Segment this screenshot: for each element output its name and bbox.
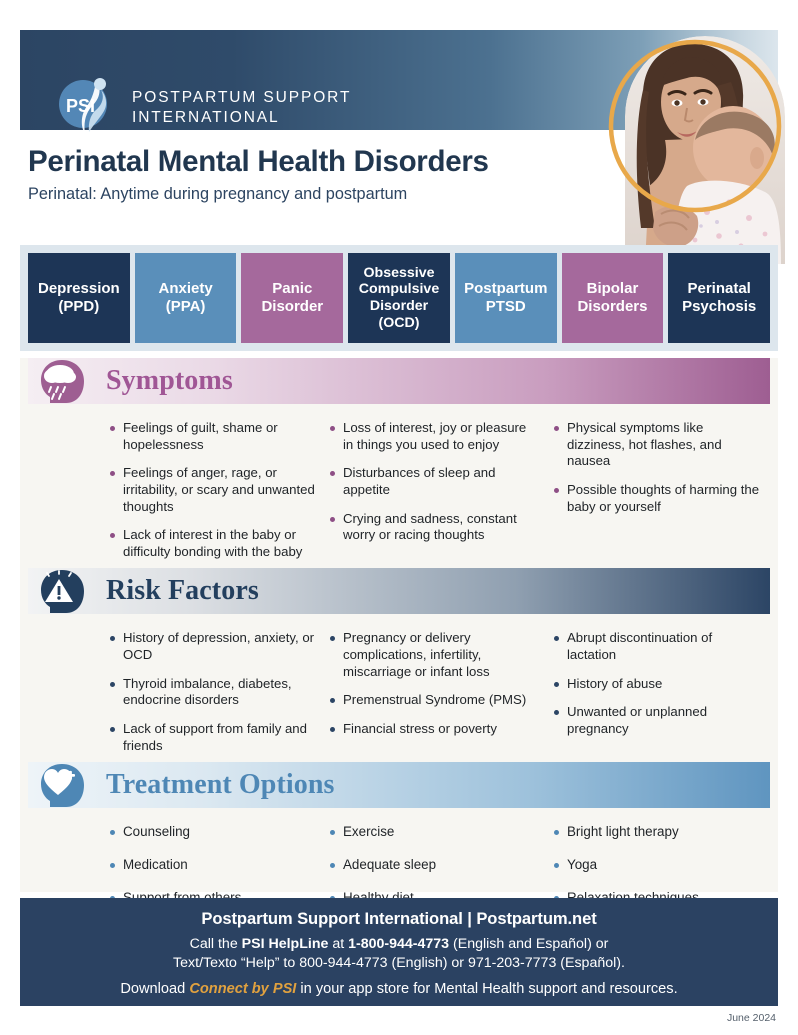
hero-photo-block bbox=[607, 22, 782, 250]
list-item: Yoga bbox=[554, 857, 764, 874]
list-item: Lack of support from family and friends bbox=[110, 721, 320, 754]
footer-helpline-name: PSI HelpLine bbox=[242, 936, 329, 952]
tab-ocd[interactable]: ObsessiveCompulsiveDisorder(OCD) bbox=[348, 253, 450, 343]
risk-column-3: Abrupt discontinuation of lactation Hist… bbox=[540, 630, 764, 754]
org-name: POSTPARTUM SUPPORT INTERNATIONAL bbox=[132, 88, 351, 129]
date-stamp: June 2024 bbox=[727, 1012, 776, 1024]
org-name-line1: POSTPARTUM SUPPORT bbox=[132, 88, 351, 108]
list-item: Disturbances of sleep and appetite bbox=[330, 465, 540, 498]
tab-sublabel: PTSD bbox=[464, 298, 547, 316]
psi-logo: PSI POSTPARTUM SUPPORT INTERNATIONAL bbox=[56, 74, 351, 142]
tab-label: Anxiety bbox=[158, 280, 212, 298]
page-subtitle: Perinatal: Anytime during pregnancy and … bbox=[28, 185, 489, 204]
list-item: History of depression, anxiety, or OCD bbox=[110, 630, 320, 663]
footer-text-line: Text/Texto “Help” to 800-944-4773 (Engli… bbox=[20, 954, 778, 973]
footer-helpline-at: at bbox=[328, 936, 348, 952]
gold-ring-accent-icon bbox=[607, 22, 782, 250]
list-item: Bright light therapy bbox=[554, 824, 764, 841]
tab-depression[interactable]: Depression(PPD) bbox=[28, 253, 130, 343]
section-header-treatment-options: Treatment Options bbox=[28, 762, 770, 808]
tab-label: Perinatal bbox=[682, 280, 756, 298]
tab-perinatal-psychosis[interactable]: PerinatalPsychosis bbox=[668, 253, 770, 343]
tab-panic-disorder[interactable]: PanicDisorder bbox=[241, 253, 343, 343]
tab-sublabel: Disorders bbox=[577, 298, 647, 316]
tab-sublabel: Psychosis bbox=[682, 298, 756, 316]
footer-app-suffix: in your app store for Mental Health supp… bbox=[296, 981, 677, 997]
footer-app-name[interactable]: Connect by PSI bbox=[189, 981, 296, 997]
section-title: Symptoms bbox=[106, 365, 233, 397]
svg-text:PSI: PSI bbox=[66, 96, 95, 116]
disorder-tabs: Depression(PPD) Anxiety(PPA) PanicDisord… bbox=[20, 245, 778, 351]
tab-sublabel: (OCD) bbox=[359, 315, 439, 332]
tab-sublabel: (PPA) bbox=[158, 298, 212, 316]
list-item: History of abuse bbox=[554, 676, 764, 693]
list-item: Abrupt discontinuation of lactation bbox=[554, 630, 764, 663]
section-header-symptoms: Symptoms bbox=[28, 358, 770, 404]
tab-label: Bipolar bbox=[577, 280, 647, 298]
section-risk-factors: Risk Factors History of depression, anxi… bbox=[20, 568, 778, 762]
org-name-line2: INTERNATIONAL bbox=[132, 108, 351, 128]
footer-helpline-prefix: Call the bbox=[190, 936, 242, 952]
symptoms-columns: Feelings of guilt, shame or hopelessness… bbox=[20, 404, 778, 568]
tab-label: Postpartum bbox=[464, 280, 547, 298]
symptoms-column-1: Feelings of guilt, shame or hopelessness… bbox=[34, 420, 320, 560]
head-warning-triangle-icon bbox=[36, 567, 88, 615]
list-item: Lack of interest in the baby or difficul… bbox=[110, 527, 320, 560]
tab-label: Panic bbox=[261, 280, 323, 298]
risk-column-2: Pregnancy or delivery complications, inf… bbox=[320, 630, 540, 754]
list-item: Pregnancy or delivery complications, inf… bbox=[330, 630, 540, 680]
list-item: Exercise bbox=[330, 824, 540, 841]
infographic-page: PSI POSTPARTUM SUPPORT INTERNATIONAL Per… bbox=[0, 0, 798, 1035]
list-item: Premenstrual Syndrome (PMS) bbox=[330, 692, 540, 709]
footer-helpline-number[interactable]: 1-800-944-4773 bbox=[348, 936, 449, 952]
list-item: Medication bbox=[110, 857, 320, 874]
footer-app-line: Download Connect by PSI in your app stor… bbox=[20, 981, 778, 997]
tab-sublabel: (PPD) bbox=[38, 298, 120, 316]
head-rain-cloud-icon bbox=[36, 357, 88, 405]
title-block: Perinatal Mental Health Disorders Perina… bbox=[28, 146, 489, 204]
psi-figure-logo-icon: PSI bbox=[56, 74, 118, 142]
tab-label-3: Disorder bbox=[359, 298, 439, 315]
list-item: Loss of interest, joy or pleasure in thi… bbox=[330, 420, 540, 453]
footer-helpline-langs: (English and Español) or bbox=[449, 936, 608, 952]
footer-contact-block: Postpartum Support International | Postp… bbox=[20, 898, 778, 1006]
list-item: Crying and sadness, constant worry or ra… bbox=[330, 511, 540, 544]
section-symptoms: Symptoms Feelings of guilt, shame or hop… bbox=[20, 358, 778, 568]
list-item: Unwanted or unplanned pregnancy bbox=[554, 704, 764, 737]
list-item: Financial stress or poverty bbox=[330, 721, 540, 738]
list-item: Feelings of anger, rage, or irritability… bbox=[110, 465, 320, 515]
risk-columns: History of depression, anxiety, or OCD T… bbox=[20, 614, 778, 762]
footer-helpline-line: Call the PSI HelpLine at 1-800-944-4773 … bbox=[20, 935, 778, 954]
footer-app-prefix: Download bbox=[120, 981, 189, 997]
symptoms-column-3: Physical symptoms like dizziness, hot fl… bbox=[540, 420, 764, 560]
list-item: Physical symptoms like dizziness, hot fl… bbox=[554, 420, 764, 470]
tab-anxiety[interactable]: Anxiety(PPA) bbox=[135, 253, 237, 343]
tab-bipolar-disorders[interactable]: BipolarDisorders bbox=[562, 253, 664, 343]
symptoms-column-2: Loss of interest, joy or pleasure in thi… bbox=[320, 420, 540, 560]
section-title: Risk Factors bbox=[106, 575, 259, 607]
list-item: Counseling bbox=[110, 824, 320, 841]
list-item: Possible thoughts of harming the baby or… bbox=[554, 482, 764, 515]
section-header-risk-factors: Risk Factors bbox=[28, 568, 770, 614]
tab-label: Obsessive bbox=[359, 265, 439, 282]
footer-org-line: Postpartum Support International | Postp… bbox=[20, 909, 778, 929]
page-title: Perinatal Mental Health Disorders bbox=[28, 146, 489, 178]
list-item: Feelings of guilt, shame or hopelessness bbox=[110, 420, 320, 453]
list-item: Adequate sleep bbox=[330, 857, 540, 874]
tab-label: Depression bbox=[38, 280, 120, 298]
list-item: Thyroid imbalance, diabetes, endocrine d… bbox=[110, 676, 320, 709]
tab-sublabel: Disorder bbox=[261, 298, 323, 316]
tab-postpartum-ptsd[interactable]: PostpartumPTSD bbox=[455, 253, 557, 343]
head-heart-plus-icon bbox=[36, 761, 88, 809]
section-title: Treatment Options bbox=[106, 769, 335, 801]
content-panel: Symptoms Feelings of guilt, shame or hop… bbox=[20, 358, 778, 892]
risk-column-1: History of depression, anxiety, or OCD T… bbox=[34, 630, 320, 754]
tab-label-2: Compulsive bbox=[359, 281, 439, 298]
